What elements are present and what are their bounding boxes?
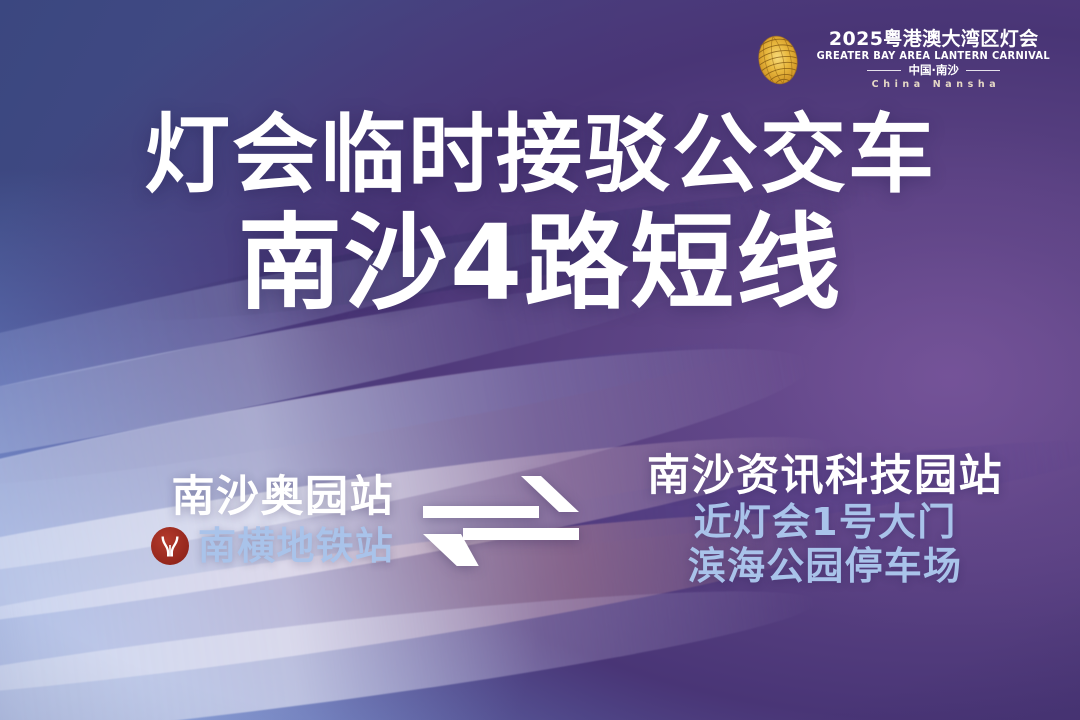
logo-place-pinyin: China Nansha bbox=[867, 79, 1000, 90]
guangzhou-metro-logo-icon bbox=[150, 526, 190, 566]
route-endpoint-left: 南沙奥园站 bbox=[24, 473, 416, 568]
right-note-1: 近灯会1号大门 bbox=[694, 500, 957, 544]
lantern-globe-icon bbox=[752, 31, 804, 89]
event-logo: 2025粤港澳大湾区灯会 GREATER BAY AREA LANTERN CA… bbox=[752, 30, 1054, 90]
route-row: 南沙奥园站 bbox=[0, 452, 1080, 588]
headline-line-1: 灯会临时接驳公交车 bbox=[0, 112, 1080, 198]
route-endpoint-right: 南沙资讯科技园站 近灯会1号大门 滨海公园停车场 bbox=[586, 452, 1056, 588]
logo-title-cn: 2025粤港澳大湾区灯会 bbox=[829, 30, 1039, 50]
bidirectional-arrow-icon bbox=[416, 474, 586, 566]
left-station-name: 南沙奥园站 bbox=[172, 473, 395, 521]
poster-canvas: 2025粤港澳大湾区灯会 GREATER BAY AREA LANTERN CA… bbox=[0, 0, 1080, 720]
divider-bar-left bbox=[867, 70, 901, 71]
right-station-name: 南沙资讯科技园站 bbox=[647, 452, 1003, 500]
right-note-2: 滨海公园停车场 bbox=[688, 544, 962, 588]
logo-text-block: 2025粤港澳大湾区灯会 GREATER BAY AREA LANTERN CA… bbox=[813, 30, 1054, 90]
logo-divider: 中国·南沙 bbox=[813, 64, 1054, 77]
left-metro-row: 南横地铁站 bbox=[150, 524, 394, 568]
logo-title-en: GREATER BAY AREA LANTERN CARNIVAL bbox=[817, 51, 1050, 62]
page-title: 灯会临时接驳公交车 南沙4路短线 bbox=[0, 112, 1080, 318]
logo-place-cn: 中国·南沙 bbox=[908, 64, 958, 77]
divider-bar-right bbox=[966, 70, 1000, 71]
left-metro-station: 南横地铁站 bbox=[198, 524, 394, 568]
headline-line-2: 南沙4路短线 bbox=[0, 208, 1080, 318]
